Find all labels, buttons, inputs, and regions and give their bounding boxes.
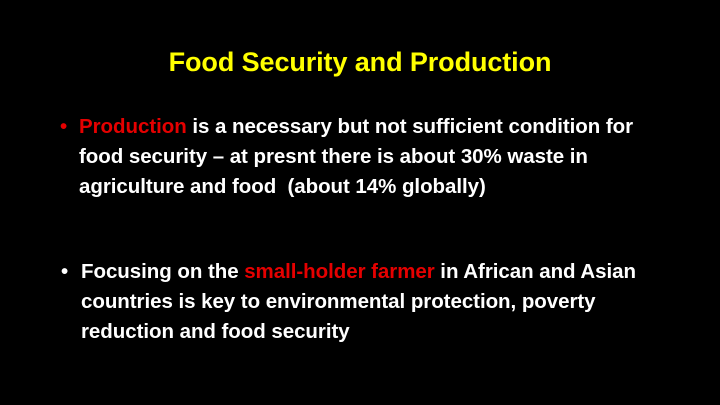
presentation-slide: Food Security and Production • Productio… [0,0,720,405]
bullet-marker-icon: • [61,257,77,287]
bullet-item-smallholder: • Focusing on the small-holder farmer in… [52,257,648,347]
slide-body: • Production is a necessary but not suff… [52,112,648,347]
bullet-highlight-production: Production [79,115,187,138]
slide-title: Food Security and Production [0,48,720,78]
bullet-highlight-smallholder-farmer: small-holder farmer [244,260,434,283]
bullet-marker-icon: • [60,112,76,142]
bullet-text-smallholder-before: Focusing on the [81,260,244,283]
bullet-item-production: • Production is a necessary but not suff… [52,112,648,202]
